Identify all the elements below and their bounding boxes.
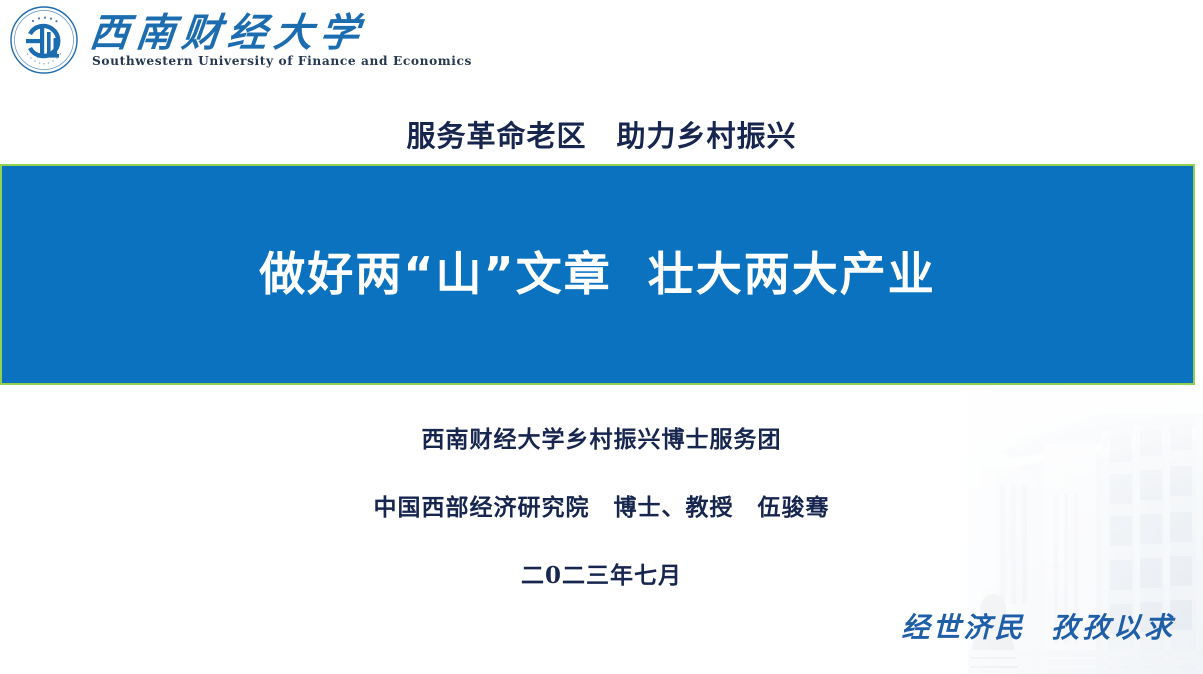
university-logo: 西南财经大学 Southwestern University of Financ…: [8, 4, 472, 76]
slide-kicker: 服务革命老区 助力乡村振兴: [0, 113, 1203, 155]
credit-line-organization: 西南财经大学乡村振兴博士服务团: [0, 420, 1203, 454]
logo-name-cn: 西南财经大学: [88, 13, 474, 54]
title-banner: 做好两“山”文章 壮大两大产业: [0, 164, 1195, 385]
credits-block: 西南财经大学乡村振兴博士服务团 中国西部经济研究院 博士、教授 伍骏骞 二0二三…: [0, 420, 1203, 590]
logo-name-en: Southwestern University of Finance and E…: [90, 55, 472, 68]
logo-wordmark: 西南财经大学 Southwestern University of Financ…: [90, 11, 472, 68]
credit-line-date: 二0二三年七月: [0, 556, 1203, 590]
credit-line-presenter: 中国西部经济研究院 博士、教授 伍骏骞: [0, 488, 1203, 522]
slide-main-title: 做好两“山”文章 壮大两大产业: [259, 247, 936, 302]
university-motto: 经世济民 孜孜以求: [902, 606, 1176, 646]
presentation-title-slide: 西南财经大学 Southwestern University of Financ…: [0, 0, 1203, 674]
swufe-emblem-icon: [8, 4, 80, 76]
